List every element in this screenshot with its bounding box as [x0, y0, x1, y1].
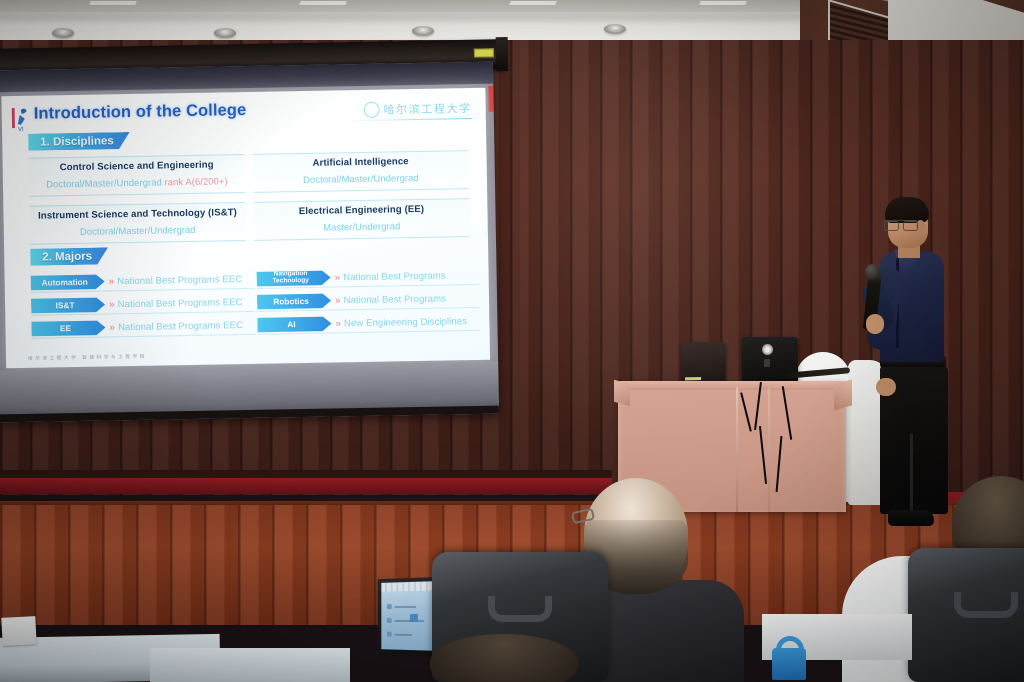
- laptop-logo-icon: [762, 344, 773, 355]
- projection-screen: VI Introduction of the College 哈尔滨工程大学 1…: [0, 62, 499, 423]
- major-description: National Best Programs: [343, 293, 446, 306]
- downlight-icon: [604, 24, 626, 34]
- chevron-right-icon: »: [335, 318, 339, 329]
- major-row: Robotics » National Best Programs: [257, 291, 479, 312]
- chair-handle[interactable]: [954, 592, 1018, 618]
- discipline-degrees: Master/Undergrad: [256, 219, 468, 234]
- slide-decor-icon: VI: [12, 106, 34, 132]
- laptop-screen: [381, 581, 438, 651]
- desktop-taskbar: [381, 581, 438, 592]
- laptop-silver[interactable]: [681, 341, 726, 382]
- majors-column-right: Navigation Technology » National Best Pr…: [257, 268, 480, 341]
- major-row: AI » New Engineering Disciplines: [257, 314, 479, 335]
- major-tag: IS&T: [31, 297, 105, 313]
- chevron-right-icon: »: [335, 295, 339, 306]
- downlight-icon: [412, 26, 434, 36]
- major-description: National Best Programs EEC: [118, 297, 243, 310]
- discipline-name: Instrument Science and Technology (IS&T): [31, 207, 243, 222]
- svg-text:VI: VI: [18, 127, 24, 132]
- discipline-card: Control Science and Engineering Doctoral…: [28, 154, 245, 197]
- logo-text: 哈尔滨工程大学: [383, 100, 471, 118]
- blue-bottle[interactable]: [772, 636, 808, 680]
- major-row: Automation » National Best Programs EEC: [31, 272, 255, 293]
- disciplines-column-left: Control Science and Engineering Doctoral…: [28, 154, 246, 254]
- audience-person-head: [430, 634, 578, 682]
- presentation-slide: VI Introduction of the College 哈尔滨工程大学 1…: [1, 88, 490, 368]
- logo-emblem-icon: [363, 102, 379, 118]
- major-description: National Best Programs: [343, 270, 446, 283]
- major-row: Navigation Technology » National Best Pr…: [257, 268, 479, 289]
- major-tag: Navigation Technology: [257, 270, 331, 286]
- discipline-name: Artificial Intelligence: [255, 155, 467, 170]
- name-card: [1, 616, 36, 646]
- discipline-degrees: Doctoral/Master/Undergrad: [255, 171, 467, 186]
- disciplines-column-right: Artificial Intelligence Doctoral/Master/…: [252, 150, 470, 250]
- discipline-degrees: Doctoral/Master/Undergrad rank A(6/200+): [31, 175, 243, 190]
- discipline-name: Control Science and Engineering: [31, 159, 243, 174]
- presenter: [858, 196, 974, 541]
- slide-footer-text: 哈尔滨工程大学 智能科学与工程学院: [28, 354, 147, 362]
- audience-chair[interactable]: [908, 548, 1024, 682]
- major-tag: AI: [257, 316, 331, 332]
- major-tag: Automation: [31, 274, 105, 290]
- glasses-icon: [884, 220, 918, 228]
- discipline-rank: rank A(6/200+): [164, 175, 227, 187]
- section-banner-disciplines: 1. Disciplines: [28, 132, 130, 151]
- discipline-name: Electrical Engineering (EE): [255, 203, 467, 218]
- lecture-hall-scene: VI Introduction of the College 哈尔滨工程大学 1…: [0, 0, 1024, 682]
- chevron-right-icon: »: [109, 299, 113, 310]
- major-row: IS&T » National Best Programs EEC: [31, 295, 255, 316]
- majors-column-left: Automation » National Best Programs EEC …: [31, 272, 256, 345]
- discipline-card: Artificial Intelligence Doctoral/Master/…: [252, 150, 469, 193]
- chevron-right-icon: »: [109, 322, 113, 333]
- slide-title: Introduction of the College: [34, 101, 247, 124]
- hand: [866, 314, 884, 334]
- university-logo: 哈尔滨工程大学: [363, 99, 472, 119]
- discipline-card: Instrument Science and Technology (IS&T)…: [29, 202, 246, 245]
- major-tag: Robotics: [257, 293, 331, 309]
- chevron-right-icon: »: [335, 272, 339, 283]
- hand: [876, 378, 896, 396]
- section-banner-majors: 2. Majors: [30, 247, 108, 265]
- shoe: [888, 510, 934, 526]
- major-row: EE » National Best Programs EEC: [31, 318, 255, 339]
- downlight-icon: [214, 28, 236, 38]
- discipline-card: Electrical Engineering (EE) Master/Under…: [253, 198, 470, 241]
- major-tag: EE: [31, 320, 105, 336]
- major-description: New Engineering Disciplines: [344, 316, 467, 329]
- audience-table: [150, 648, 350, 682]
- downlight-icon: [52, 28, 74, 38]
- major-description: National Best Programs EEC: [118, 320, 243, 333]
- discipline-degrees: Doctoral/Master/Undergrad: [32, 223, 244, 238]
- housing-label-sticker: [474, 48, 494, 57]
- chevron-right-icon: »: [109, 276, 113, 287]
- chair-handle[interactable]: [488, 596, 552, 622]
- stage-carpet: [0, 478, 612, 494]
- major-description: National Best Programs EEC: [117, 274, 242, 287]
